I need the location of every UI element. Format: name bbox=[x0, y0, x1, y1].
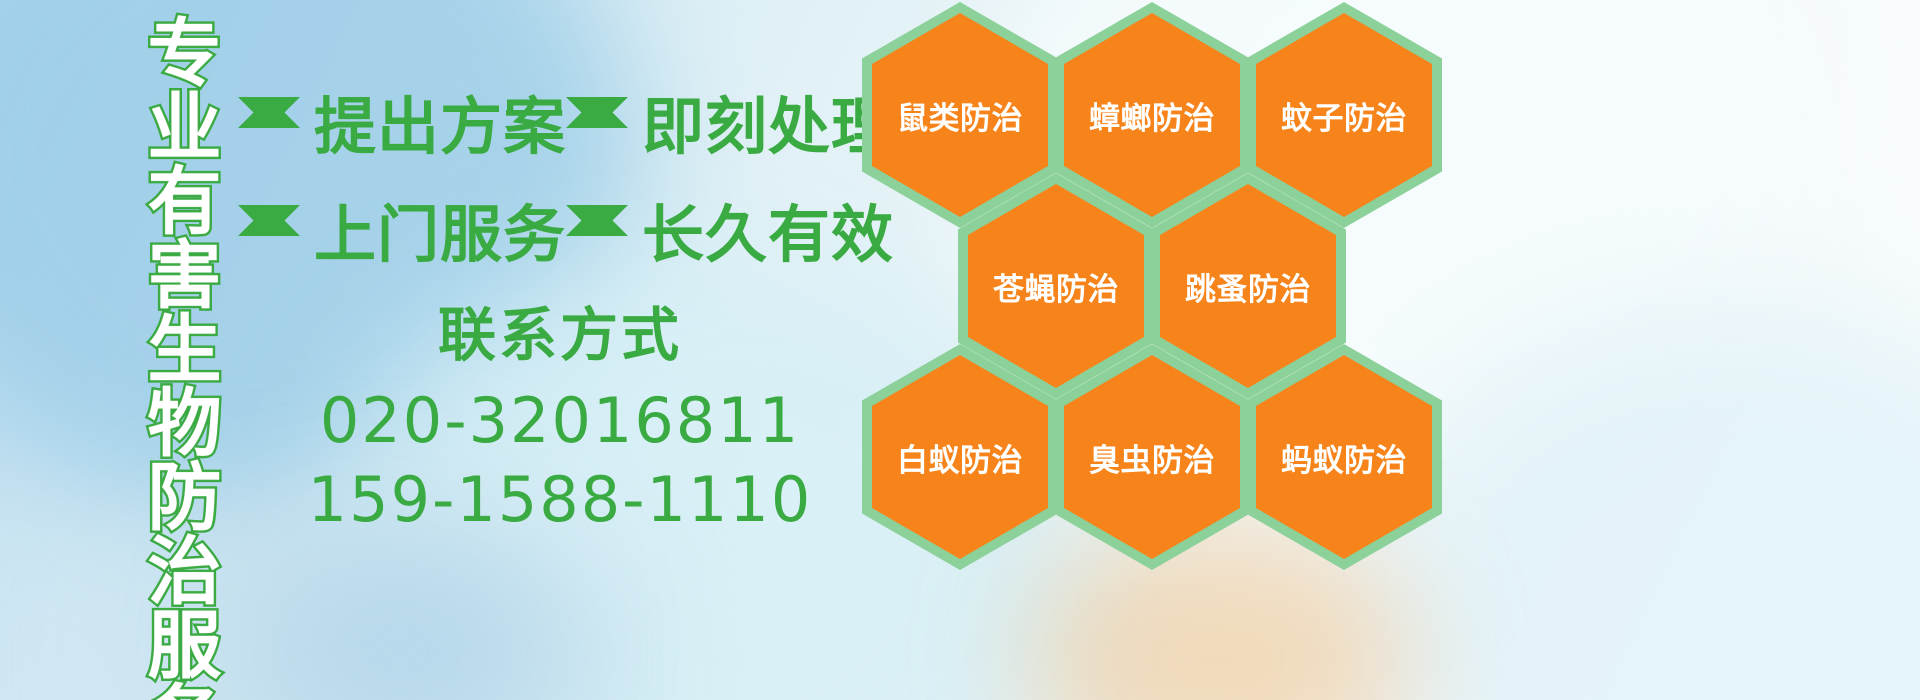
contact-title: 联系方式 bbox=[230, 300, 890, 373]
hex-label: 臭虫防治 bbox=[1054, 344, 1250, 570]
contact-phone-mobile[interactable]: 159-1588-1110 bbox=[230, 460, 890, 539]
diamond-icon bbox=[238, 97, 300, 159]
service-honeycomb: 鼠类防治 蟑螂防治 蚊子防治 苍蝇防治 跳蚤防治 白蚁防治 bbox=[858, 0, 1458, 560]
feature-item-immediate-handling: 即刻处理 bbox=[566, 97, 894, 159]
hex-label: 白蚁防治 bbox=[862, 344, 1058, 570]
vertical-headline: 专业有害生物防治服务 bbox=[112, 14, 216, 700]
contact-block: 联系方式 020-32016811 159-1588-1110 bbox=[230, 300, 890, 539]
feature-item-propose-plan: 提出方案 bbox=[238, 97, 566, 159]
feature-list: 提出方案 即刻处理 上门服务 长久有效 bbox=[238, 74, 878, 290]
feature-item-onsite-service: 上门服务 bbox=[238, 205, 566, 267]
feature-label: 长久有效 bbox=[642, 205, 894, 267]
background-blob bbox=[250, 540, 550, 700]
promo-banner: 专业有害生物防治服务 提出方案 即刻处理 上门服务 长久有效 bbox=[0, 0, 1920, 700]
diamond-icon bbox=[566, 205, 628, 267]
feature-label: 即刻处理 bbox=[642, 97, 894, 159]
hex-label: 蚂蚁防治 bbox=[1246, 344, 1442, 570]
hex-cell-ant-control[interactable]: 蚂蚁防治 bbox=[1246, 344, 1442, 570]
contact-phone-landline[interactable]: 020-32016811 bbox=[230, 381, 890, 460]
diamond-icon bbox=[566, 97, 628, 159]
diamond-icon bbox=[238, 205, 300, 267]
feature-label: 提出方案 bbox=[314, 97, 566, 159]
feature-item-long-lasting: 长久有效 bbox=[566, 205, 894, 267]
feature-row: 上门服务 长久有效 bbox=[238, 182, 878, 290]
feature-label: 上门服务 bbox=[314, 205, 566, 267]
hex-cell-bedbug-control[interactable]: 臭虫防治 bbox=[1054, 344, 1250, 570]
hex-cell-termite-control[interactable]: 白蚁防治 bbox=[862, 344, 1058, 570]
feature-row: 提出方案 即刻处理 bbox=[238, 74, 878, 182]
